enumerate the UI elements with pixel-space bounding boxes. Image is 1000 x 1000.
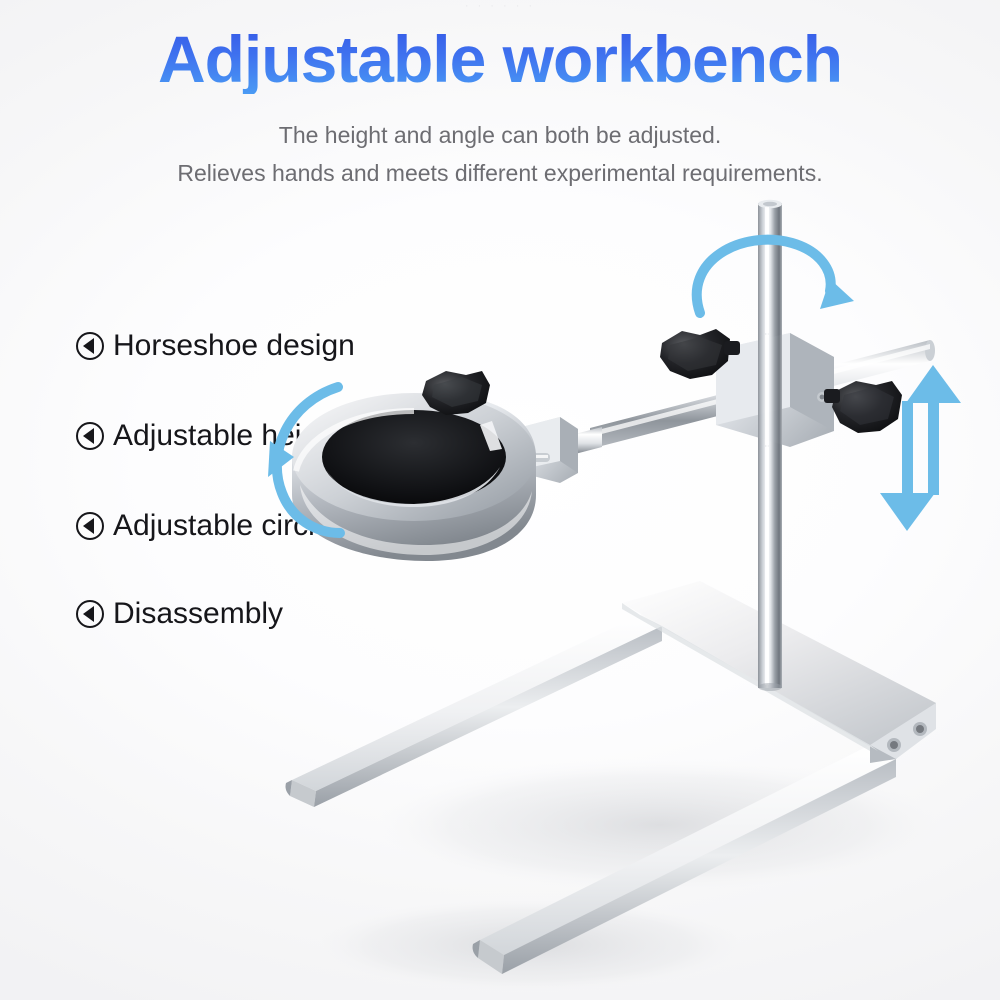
circle-left-triangle-icon <box>76 512 104 540</box>
product-feature-banner: · · · · · · Adjustable workbench The hei… <box>0 0 1000 1000</box>
top-cut-text: · · · · · · <box>0 0 1000 12</box>
subtitle-line-1: The height and angle can both be adjuste… <box>0 120 1000 150</box>
page-title: Adjustable workbench <box>0 24 1000 94</box>
circle-left-triangle-icon <box>76 422 104 450</box>
circle-left-triangle-icon <box>76 332 104 360</box>
subtitle-line-2: Relieves hands and meets different exper… <box>0 158 1000 188</box>
product-photo <box>230 185 990 995</box>
knob-right <box>824 381 902 433</box>
circle-left-triangle-icon <box>76 600 104 628</box>
